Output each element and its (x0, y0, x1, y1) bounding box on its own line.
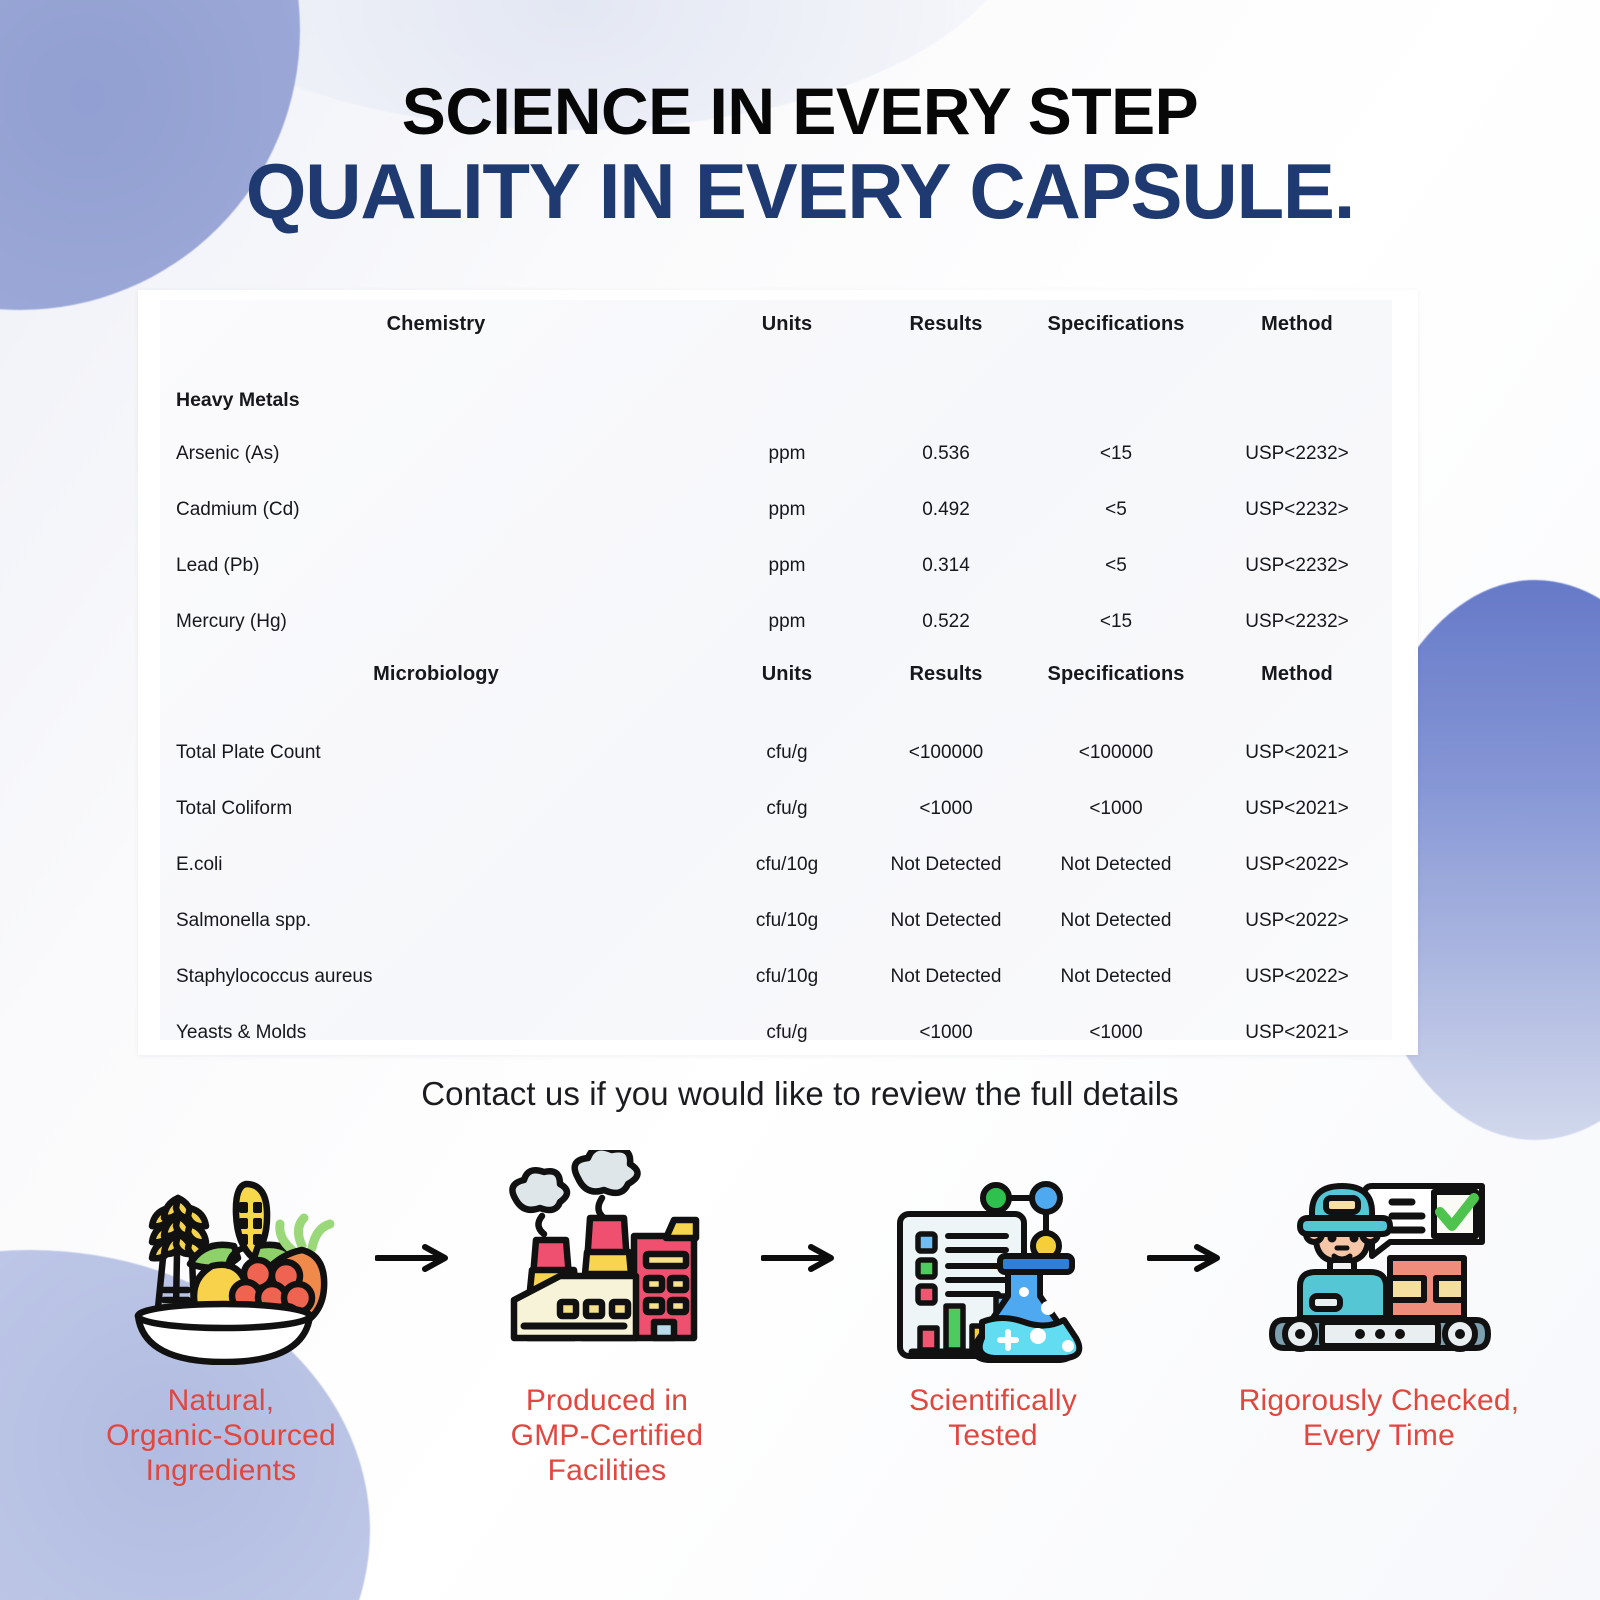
headline-line-2: QUALITY IN EVERY CAPSULE. (0, 151, 1600, 232)
analyte-method: USP<2232> (1202, 594, 1392, 650)
table-row: Total Coliform cfu/g <1000 <1000 USP<202… (160, 781, 1392, 837)
group-label-heavy-metals: Heavy Metals (160, 375, 712, 426)
analyte-specification: <5 (1030, 482, 1202, 538)
analyte-specification: <15 (1030, 594, 1202, 650)
column-header-chemistry: Chemistry (160, 300, 712, 349)
process-step-4: Rigorously Checked,Every Time (1234, 1150, 1524, 1453)
qa-inspector-icon (1264, 1150, 1494, 1365)
analyte-method: USP<2232> (1202, 482, 1392, 538)
factory-icon (492, 1150, 722, 1365)
analyte-result: 0.522 (862, 594, 1030, 650)
table-row: Yeasts & Molds cfu/g <1000 <1000 USP<202… (160, 1005, 1392, 1061)
analyte-units: cfu/g (712, 1005, 862, 1061)
analyte-units: ppm (712, 594, 862, 650)
analyte-specification: <100000 (1030, 725, 1202, 781)
column-header-units: Units (712, 300, 862, 349)
analyte-name: Arsenic (As) (160, 426, 712, 482)
analyte-result: Not Detected (862, 949, 1030, 1005)
column-header-results: Results (862, 300, 1030, 349)
process-step-3: ScientificallyTested (848, 1150, 1138, 1453)
headline-block: SCIENCE IN EVERY STEP QUALITY IN EVERY C… (0, 0, 1600, 232)
column-header-method: Method (1202, 650, 1392, 699)
process-steps-strip: Natural,Organic-SourcedIngredients (0, 1150, 1600, 1488)
table-row: Arsenic (As) ppm 0.536 <15 USP<2232> (160, 426, 1392, 482)
table-spacer-row (160, 349, 1392, 375)
analyte-name: Total Coliform (160, 781, 712, 837)
analyte-units: ppm (712, 426, 862, 482)
analyte-method: USP<2232> (1202, 538, 1392, 594)
process-step-1-label: Natural,Organic-SourcedIngredients (106, 1383, 336, 1488)
analyte-units: cfu/g (712, 781, 862, 837)
arrow-right-icon-3 (1138, 1150, 1234, 1365)
analyte-units: ppm (712, 482, 862, 538)
coa-table: Chemistry Units Results Specifications M… (160, 300, 1392, 1061)
column-header-results: Results (862, 650, 1030, 699)
infographic-page: SCIENCE IN EVERY STEP QUALITY IN EVERY C… (0, 0, 1600, 1600)
analyte-units: cfu/10g (712, 949, 862, 1005)
analyte-method: USP<2021> (1202, 1005, 1392, 1061)
analyte-name: Lead (Pb) (160, 538, 712, 594)
table-row: Salmonella spp. cfu/10g Not Detected Not… (160, 893, 1392, 949)
analyte-method: USP<2021> (1202, 725, 1392, 781)
analyte-result: <1000 (862, 1005, 1030, 1061)
analyte-result: Not Detected (862, 893, 1030, 949)
analyte-method: USP<2021> (1202, 781, 1392, 837)
analyte-specification: <15 (1030, 426, 1202, 482)
analyte-result: <1000 (862, 781, 1030, 837)
analyte-name: Salmonella spp. (160, 893, 712, 949)
table-group-row-heavy-metals: Heavy Metals (160, 375, 1392, 426)
analyte-result: Not Detected (862, 837, 1030, 893)
analyte-method: USP<2232> (1202, 426, 1392, 482)
analyte-specification: Not Detected (1030, 837, 1202, 893)
analyte-specification: Not Detected (1030, 949, 1202, 1005)
analyte-result: 0.536 (862, 426, 1030, 482)
lab-analysis-icon (878, 1150, 1108, 1365)
table-row: Staphylococcus aureus cfu/10g Not Detect… (160, 949, 1392, 1005)
column-header-method: Method (1202, 300, 1392, 349)
analyte-method: USP<2022> (1202, 949, 1392, 1005)
process-step-4-label: Rigorously Checked,Every Time (1239, 1383, 1520, 1453)
arrow-right-icon-2 (752, 1150, 848, 1365)
analyte-result: 0.314 (862, 538, 1030, 594)
column-header-microbiology: Microbiology (160, 650, 712, 699)
analyte-units: ppm (712, 538, 862, 594)
analyte-units: cfu/10g (712, 893, 862, 949)
analyte-result: 0.492 (862, 482, 1030, 538)
table-spacer-row (160, 699, 1392, 725)
analyte-name: Yeasts & Molds (160, 1005, 712, 1061)
process-step-2: Produced inGMP-CertifiedFacilities (462, 1150, 752, 1488)
analyte-specification: <5 (1030, 538, 1202, 594)
analyte-method: USP<2022> (1202, 837, 1392, 893)
contact-note: Contact us if you would like to review t… (0, 1075, 1600, 1113)
analyte-result: <100000 (862, 725, 1030, 781)
table-row: Cadmium (Cd) ppm 0.492 <5 USP<2232> (160, 482, 1392, 538)
column-header-specifications: Specifications (1030, 650, 1202, 699)
table-row: Mercury (Hg) ppm 0.522 <15 USP<2232> (160, 594, 1392, 650)
fruit-bowl-icon (106, 1150, 336, 1365)
process-step-1: Natural,Organic-SourcedIngredients (76, 1150, 366, 1488)
analyte-name: Mercury (Hg) (160, 594, 712, 650)
analyte-name: Cadmium (Cd) (160, 482, 712, 538)
table-row: E.coli cfu/10g Not Detected Not Detected… (160, 837, 1392, 893)
table-header-row-microbiology: Microbiology Units Results Specification… (160, 650, 1392, 699)
coa-document-card: Chemistry Units Results Specifications M… (138, 290, 1418, 1055)
column-header-units: Units (712, 650, 862, 699)
analyte-name: Total Plate Count (160, 725, 712, 781)
coa-document-scan: Chemistry Units Results Specifications M… (160, 300, 1392, 1040)
table-row: Lead (Pb) ppm 0.314 <5 USP<2232> (160, 538, 1392, 594)
process-step-2-label: Produced inGMP-CertifiedFacilities (511, 1383, 704, 1488)
analyte-method: USP<2022> (1202, 893, 1392, 949)
analyte-name: E.coli (160, 837, 712, 893)
column-header-specifications: Specifications (1030, 300, 1202, 349)
headline-line-1: SCIENCE IN EVERY STEP (0, 78, 1600, 145)
analyte-specification: <1000 (1030, 781, 1202, 837)
table-row: Total Plate Count cfu/g <100000 <100000 … (160, 725, 1392, 781)
analyte-specification: Not Detected (1030, 893, 1202, 949)
analyte-units: cfu/g (712, 725, 862, 781)
arrow-right-icon-1 (366, 1150, 462, 1365)
process-step-3-label: ScientificallyTested (909, 1383, 1077, 1453)
analyte-units: cfu/10g (712, 837, 862, 893)
table-header-row-chemistry: Chemistry Units Results Specifications M… (160, 300, 1392, 349)
analyte-specification: <1000 (1030, 1005, 1202, 1061)
analyte-name: Staphylococcus aureus (160, 949, 712, 1005)
